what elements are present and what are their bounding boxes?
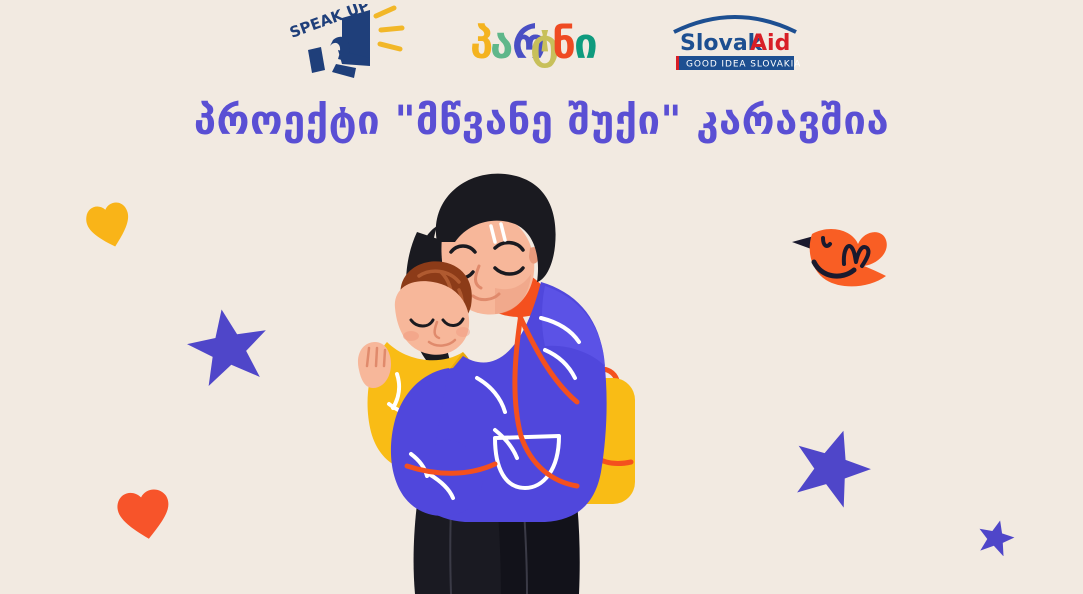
poster-canvas: SPEAK UP პ ა რ ტ ნ ი Slovak bbox=[0, 0, 1083, 594]
star-small-decoration bbox=[977, 518, 1015, 556]
megaphone-with-person-icon: SPEAK UP bbox=[284, 4, 406, 80]
star-right-decoration bbox=[791, 424, 873, 508]
svg-text:ა: ა bbox=[490, 19, 513, 68]
partnior-logo: პ ა რ ტ ნ ი bbox=[468, 16, 608, 72]
logo-bar: SPEAK UP პ ა რ ტ ნ ი Slovak bbox=[0, 0, 1083, 84]
bird-decoration bbox=[790, 218, 894, 290]
star-left-decoration bbox=[184, 303, 272, 389]
page-title: პროექტი "მწვანე შუქი" კარავშია bbox=[0, 96, 1083, 146]
svg-text:ნ: ნ bbox=[552, 19, 576, 68]
slovakaid-logo: Slovak Aid GOOD IDEA SLOVAKIA bbox=[670, 10, 800, 72]
multicolor-georgian-wordmark-icon: პ ა რ ტ ნ ი bbox=[468, 16, 608, 72]
heart-yellow-decoration bbox=[82, 193, 138, 251]
slovakaid-logo-tagline: GOOD IDEA SLOVAKIA bbox=[686, 60, 800, 70]
slovakaid-mark-icon: Slovak Aid GOOD IDEA SLOVAKIA bbox=[670, 10, 800, 72]
svg-text:ი: ი bbox=[574, 19, 598, 68]
heart-orange-decoration bbox=[111, 479, 179, 543]
mother-hugging-child-illustration bbox=[345, 170, 745, 594]
slovakaid-logo-aid-text: Aid bbox=[750, 31, 790, 56]
speak-up-logo: SPEAK UP bbox=[284, 4, 406, 80]
